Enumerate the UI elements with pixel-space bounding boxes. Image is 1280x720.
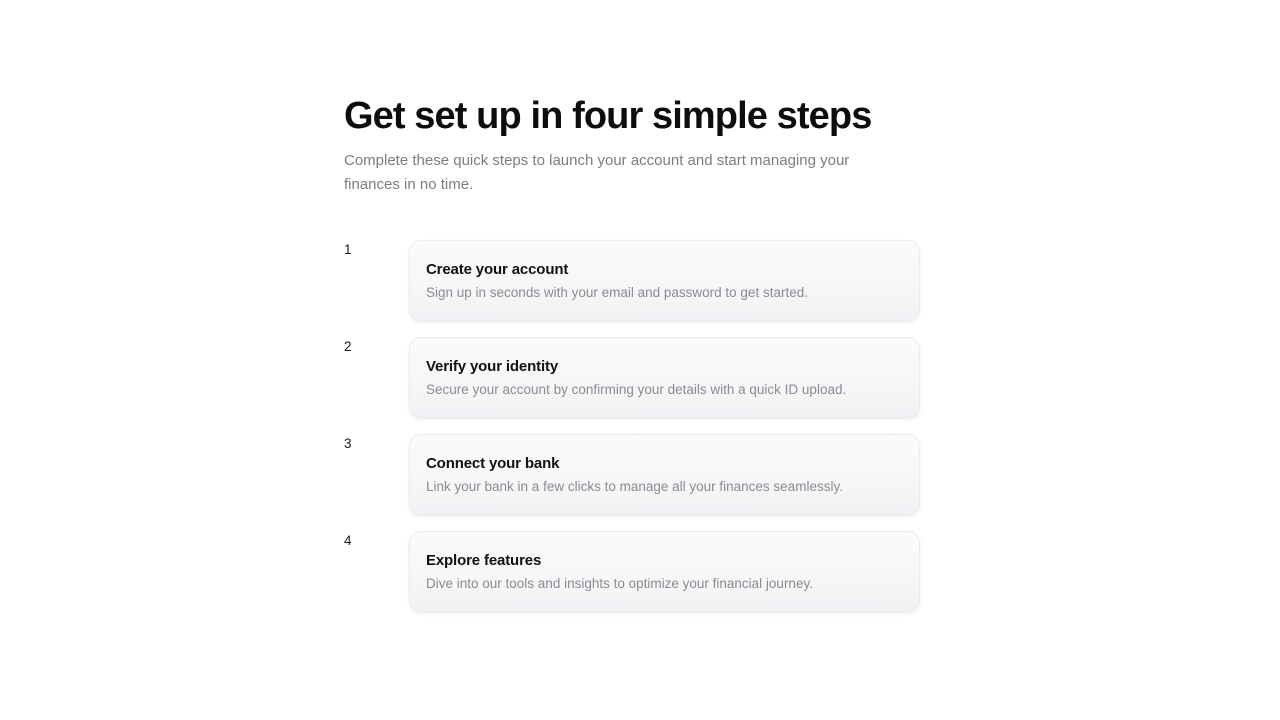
onboarding-steps-page: Get set up in four simple steps Complete… [0, 0, 1280, 720]
step-description: Link your bank in a few clicks to manage… [426, 473, 903, 496]
page-subtitle: Complete these quick steps to launch you… [344, 140, 896, 197]
list-item: 1 Create your account Sign up in seconds… [344, 240, 920, 321]
step-title: Explore features [426, 551, 903, 570]
step-title: Connect your bank [426, 454, 903, 473]
list-item: 4 Explore features Dive into our tools a… [344, 531, 920, 612]
page-header: Get set up in four simple steps Complete… [344, 92, 920, 197]
step-description: Sign up in seconds with your email and p… [426, 279, 903, 302]
step-description: Dive into our tools and insights to opti… [426, 570, 903, 593]
step-card-verify-identity[interactable]: Verify your identity Secure your account… [409, 337, 920, 418]
step-title: Create your account [426, 260, 903, 279]
list-item: 3 Connect your bank Link your bank in a … [344, 434, 920, 515]
step-number: 3 [344, 434, 409, 452]
page-title: Get set up in four simple steps [344, 92, 920, 140]
step-description: Secure your account by confirming your d… [426, 376, 903, 399]
step-card-explore-features[interactable]: Explore features Dive into our tools and… [409, 531, 920, 612]
step-number: 2 [344, 337, 409, 355]
step-number: 4 [344, 531, 409, 549]
step-title: Verify your identity [426, 357, 903, 376]
step-card-create-account[interactable]: Create your account Sign up in seconds w… [409, 240, 920, 321]
step-number: 1 [344, 240, 409, 258]
step-card-connect-bank[interactable]: Connect your bank Link your bank in a fe… [409, 434, 920, 515]
list-item: 2 Verify your identity Secure your accou… [344, 337, 920, 418]
steps-list: 1 Create your account Sign up in seconds… [344, 240, 920, 612]
